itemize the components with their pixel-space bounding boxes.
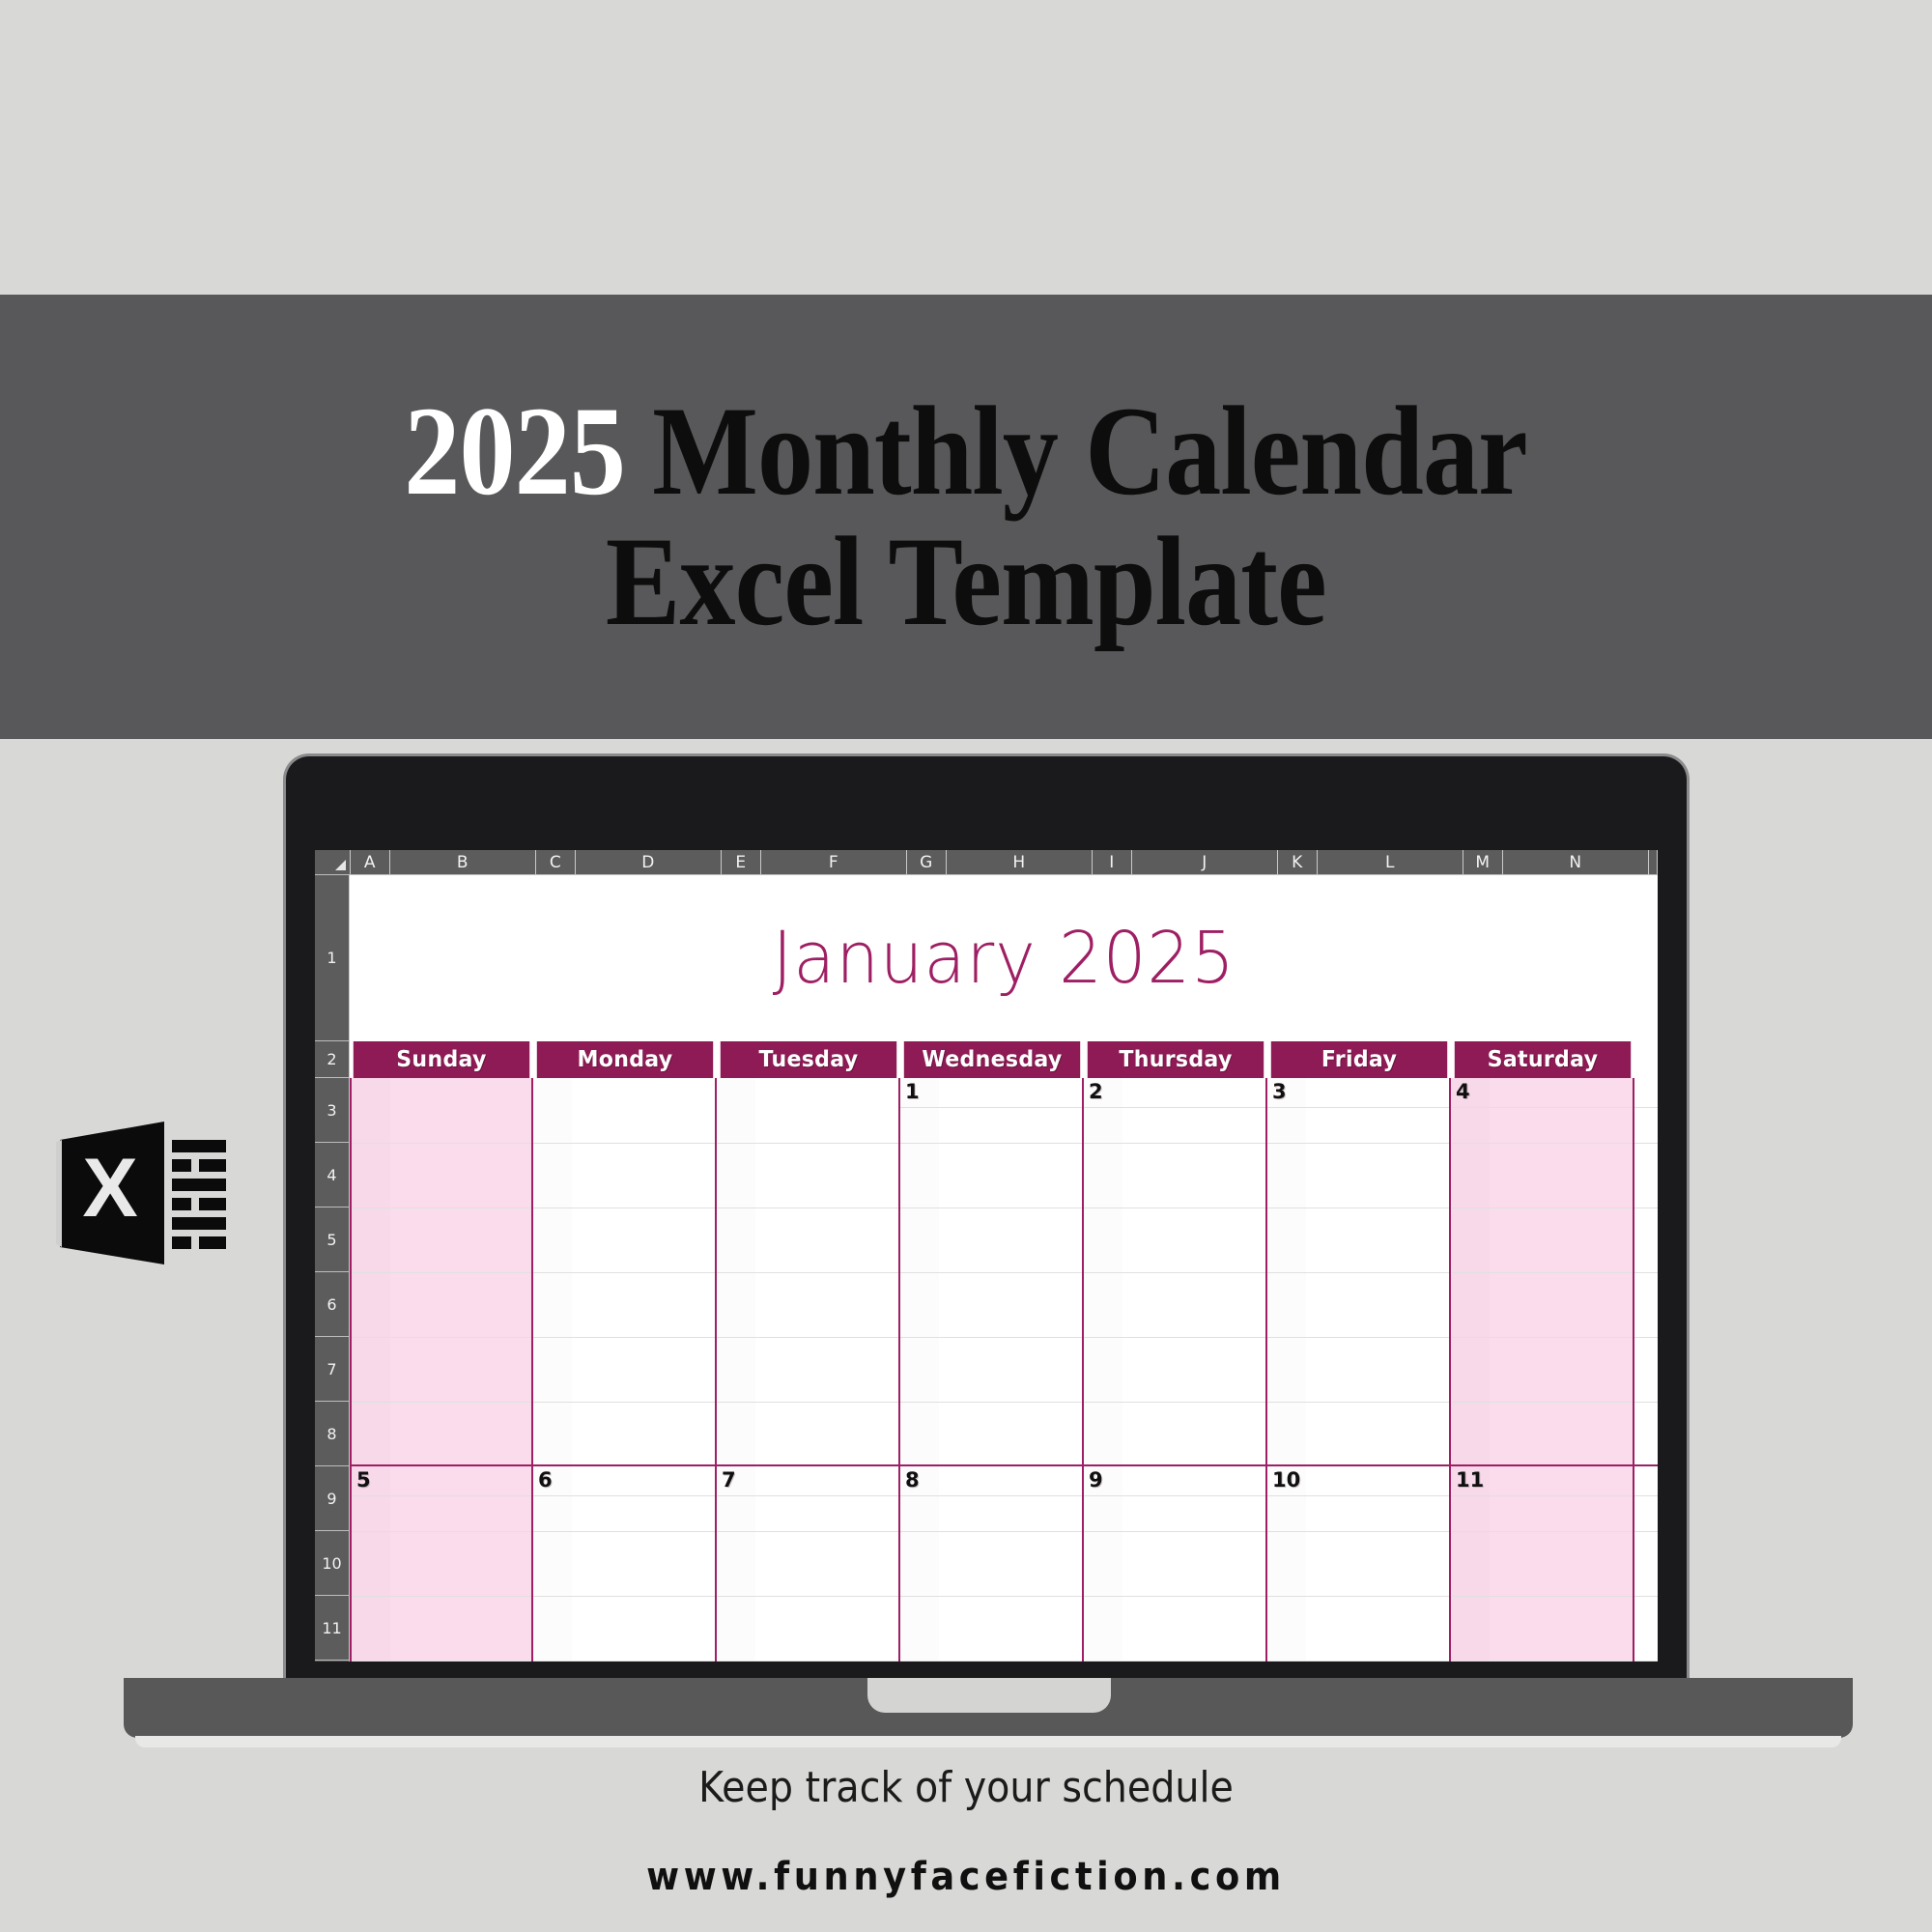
day-number-subcolumn — [1267, 1078, 1306, 1464]
grid-rule-line — [1451, 1531, 1633, 1532]
weekday-header-band: SundayMondayTuesdayWednesdayThursdayFrid… — [350, 1041, 1658, 1078]
grid-rule-line — [900, 1661, 1082, 1662]
row-header-7[interactable]: 7 — [315, 1337, 350, 1402]
day-number-subcolumn — [352, 1078, 390, 1464]
calendar-day-cell[interactable]: 2 — [1084, 1078, 1267, 1464]
grid-rule-line — [1634, 1661, 1658, 1662]
grid-rule-line — [900, 1107, 1082, 1108]
day-number: 1 — [905, 1080, 920, 1103]
day-number: 4 — [1456, 1080, 1470, 1103]
laptop-notch — [867, 1678, 1111, 1713]
empty-sheet-columns[interactable] — [1634, 1078, 1658, 1464]
grid-rule-line — [717, 1207, 898, 1208]
column-header-n[interactable]: N — [1503, 850, 1649, 875]
caption-text: Keep track of your schedule — [97, 1763, 1835, 1812]
grid-rule-line — [900, 1531, 1082, 1532]
site-url-text: www.funnyfacefiction.com — [77, 1855, 1855, 1899]
column-header-l[interactable]: L — [1318, 850, 1463, 875]
grid-rule-line — [533, 1207, 715, 1208]
row-header-1[interactable]: 1 — [315, 875, 350, 1041]
day-number: 10 — [1272, 1468, 1300, 1492]
grid-rule-line — [1634, 1402, 1658, 1403]
grid-rule-line — [533, 1661, 715, 1662]
calendar-day-cell[interactable]: 8 — [900, 1466, 1084, 1662]
calendar-weeks: 1234567891011121314151617181920212223242… — [350, 1078, 1658, 1662]
row-header-9[interactable]: 9 — [315, 1466, 350, 1531]
column-header-a[interactable]: A — [351, 850, 390, 875]
weekday-header-saturday: Saturday — [1455, 1041, 1631, 1078]
grid-rule-line — [1451, 1495, 1633, 1496]
grid-rule-line — [1267, 1495, 1449, 1496]
select-all-triangle-icon[interactable] — [315, 850, 351, 875]
grid-rule-line — [1267, 1402, 1449, 1403]
day-number: 6 — [538, 1468, 553, 1492]
day-number: 5 — [356, 1468, 371, 1492]
grid-rule-line — [1267, 1337, 1449, 1338]
calendar-day-cell[interactable]: 10 — [1267, 1466, 1451, 1662]
weekday-header-thursday: Thursday — [1088, 1041, 1264, 1078]
grid-rule-line — [1451, 1143, 1633, 1144]
weekday-header-wednesday: Wednesday — [904, 1041, 1080, 1078]
grid-rule-line — [1634, 1337, 1658, 1338]
grid-rule-line — [1267, 1107, 1449, 1108]
grid-rule-line — [900, 1143, 1082, 1144]
day-number: 7 — [722, 1468, 736, 1492]
grid-rule-line — [1634, 1107, 1658, 1108]
weekday-header-sunday: Sunday — [354, 1041, 529, 1078]
title-year: 2025 — [405, 380, 626, 522]
svg-text:X: X — [82, 1142, 137, 1235]
grid-rule-line — [1634, 1143, 1658, 1144]
column-header-f[interactable]: F — [761, 850, 907, 875]
day-number: 2 — [1089, 1080, 1103, 1103]
row-header-12[interactable]: 12 — [315, 1661, 350, 1662]
day-number: 9 — [1089, 1468, 1103, 1492]
grid-rule-line — [717, 1661, 898, 1662]
grid-rule-line — [352, 1531, 531, 1532]
grid-rule-line — [1634, 1207, 1658, 1208]
column-header-g[interactable]: G — [907, 850, 947, 875]
grid-rule-line — [1084, 1207, 1265, 1208]
day-number: 11 — [1456, 1468, 1484, 1492]
grid-rule-line — [1084, 1596, 1265, 1597]
month-title-text: January 2025 — [772, 917, 1235, 1000]
grid-rule-line — [717, 1596, 898, 1597]
grid-rule-line — [1084, 1495, 1265, 1496]
grid-rule-line — [352, 1337, 531, 1338]
grid-rule-line — [900, 1337, 1082, 1338]
grid-rule-line — [352, 1402, 531, 1403]
row-header-11[interactable]: 11 — [315, 1596, 350, 1661]
subtitle: Excel Template — [606, 517, 1326, 647]
grid-rule-line — [1634, 1272, 1658, 1273]
column-header-d[interactable]: D — [576, 850, 722, 875]
grid-rule-line — [1267, 1272, 1449, 1273]
grid-rule-line — [1451, 1402, 1633, 1403]
grid-rule-line — [1267, 1661, 1449, 1662]
grid-rule-line — [352, 1272, 531, 1273]
grid-rule-line — [1451, 1207, 1633, 1208]
calendar-week-row: 567891011 — [350, 1466, 1658, 1662]
row-header-3[interactable]: 3 — [315, 1078, 350, 1143]
weekday-band-filler — [1634, 1041, 1658, 1078]
row-number-gutter: 12345678910111213141516171819202122 — [315, 875, 350, 1662]
grid-rule-line — [717, 1272, 898, 1273]
grid-rule-line — [717, 1337, 898, 1338]
row-header-8[interactable]: 8 — [315, 1402, 350, 1466]
column-header-m[interactable]: M — [1463, 850, 1503, 875]
calendar-grid: January 2025 SundayMondayTuesdayWednesda… — [350, 875, 1658, 1662]
grid-rule-line — [533, 1143, 715, 1144]
calendar-day-cell[interactable] — [717, 1078, 900, 1464]
calendar-week-row: 1234 — [350, 1078, 1658, 1466]
grid-rule-line — [1084, 1661, 1265, 1662]
row-header-4[interactable]: 4 — [315, 1143, 350, 1207]
grid-rule-line — [1084, 1402, 1265, 1403]
grid-rule-line — [1267, 1207, 1449, 1208]
grid-rule-line — [717, 1531, 898, 1532]
grid-rule-line — [352, 1207, 531, 1208]
weekday-header-monday: Monday — [537, 1041, 713, 1078]
month-title-cell: January 2025 — [350, 875, 1658, 1041]
grid-rule-line — [533, 1531, 715, 1532]
calendar-day-cell[interactable]: 4 — [1451, 1078, 1634, 1464]
calendar-day-cell[interactable]: 5 — [350, 1466, 533, 1662]
column-header-c[interactable]: C — [536, 850, 576, 875]
grid-rule-line — [1451, 1661, 1633, 1662]
grid-rule-line — [1084, 1531, 1265, 1532]
column-header-filler — [1649, 850, 1658, 875]
day-number-subcolumn — [1084, 1078, 1122, 1464]
grid-rule-line — [1267, 1143, 1449, 1144]
title-banner: 2025 Monthly Calendar Excel Template — [0, 295, 1932, 739]
grid-rule-line — [1084, 1272, 1265, 1273]
grid-rule-line — [1084, 1143, 1265, 1144]
grid-rule-line — [533, 1495, 715, 1496]
grid-rule-line — [900, 1272, 1082, 1273]
grid-rule-line — [1451, 1107, 1633, 1108]
grid-rule-line — [900, 1596, 1082, 1597]
grid-rule-line — [533, 1337, 715, 1338]
grid-rule-line — [1634, 1495, 1658, 1496]
laptop-screen: ABCDEFGHIJKLMN 1234567891011121314151617… — [286, 756, 1687, 1684]
calendar-day-cell[interactable] — [533, 1078, 717, 1464]
calendar-day-cell[interactable]: 9 — [1084, 1466, 1267, 1662]
row-header-10[interactable]: 10 — [315, 1531, 350, 1596]
excel-icon: X — [56, 1116, 230, 1270]
column-header-k[interactable]: K — [1278, 850, 1318, 875]
column-header-j[interactable]: J — [1132, 850, 1278, 875]
grid-rule-line — [900, 1495, 1082, 1496]
grid-rule-line — [1634, 1531, 1658, 1532]
grid-rule-line — [1084, 1337, 1265, 1338]
column-header-b[interactable]: B — [390, 850, 536, 875]
column-header-row: ABCDEFGHIJKLMN — [315, 850, 1658, 875]
grid-rule-line — [352, 1495, 531, 1496]
grid-rule-line — [1267, 1596, 1449, 1597]
grid-rule-line — [1084, 1107, 1265, 1108]
calendar-day-cell[interactable]: 7 — [717, 1466, 900, 1662]
day-number-subcolumn — [1451, 1078, 1490, 1464]
calendar-day-cell[interactable]: 11 — [1451, 1466, 1634, 1662]
day-number-subcolumn — [533, 1078, 572, 1464]
weekday-header-tuesday: Tuesday — [721, 1041, 896, 1078]
title-rest: Monthly Calendar — [653, 380, 1528, 522]
grid-rule-line — [1267, 1531, 1449, 1532]
calendar-day-cell[interactable]: 1 — [900, 1078, 1084, 1464]
column-header-e[interactable]: E — [722, 850, 761, 875]
grid-rule-line — [717, 1143, 898, 1144]
grid-rule-line — [352, 1143, 531, 1144]
grid-rule-line — [1451, 1337, 1633, 1338]
grid-rule-line — [533, 1402, 715, 1403]
grid-rule-line — [533, 1272, 715, 1273]
column-header-i[interactable]: I — [1093, 850, 1132, 875]
grid-rule-line — [1451, 1596, 1633, 1597]
weekday-header-friday: Friday — [1271, 1041, 1447, 1078]
spreadsheet[interactable]: ABCDEFGHIJKLMN 1234567891011121314151617… — [315, 850, 1658, 1662]
grid-rule-line — [352, 1596, 531, 1597]
grid-rule-line — [1634, 1596, 1658, 1597]
grid-rule-line — [352, 1661, 531, 1662]
day-number-subcolumn — [900, 1078, 939, 1464]
empty-sheet-columns[interactable] — [1634, 1466, 1658, 1662]
calendar-day-cell[interactable]: 3 — [1267, 1078, 1451, 1464]
day-number: 3 — [1272, 1080, 1287, 1103]
day-number: 8 — [905, 1468, 920, 1492]
laptop-base-shadow — [135, 1736, 1841, 1747]
grid-rule-line — [900, 1402, 1082, 1403]
grid-rule-line — [1451, 1272, 1633, 1273]
grid-rule-line — [533, 1596, 715, 1597]
row-header-5[interactable]: 5 — [315, 1207, 350, 1272]
sheet-body: 12345678910111213141516171819202122 Janu… — [315, 875, 1658, 1662]
row-header-6[interactable]: 6 — [315, 1272, 350, 1337]
calendar-day-cell[interactable]: 6 — [533, 1466, 717, 1662]
grid-rule-line — [900, 1207, 1082, 1208]
row-header-2[interactable]: 2 — [315, 1041, 350, 1078]
grid-rule-line — [717, 1402, 898, 1403]
column-header-h[interactable]: H — [947, 850, 1093, 875]
main-title: 2025 Monthly Calendar — [405, 386, 1528, 517]
calendar-day-cell[interactable] — [350, 1078, 533, 1464]
grid-rule-line — [717, 1495, 898, 1496]
day-number-subcolumn — [717, 1078, 755, 1464]
